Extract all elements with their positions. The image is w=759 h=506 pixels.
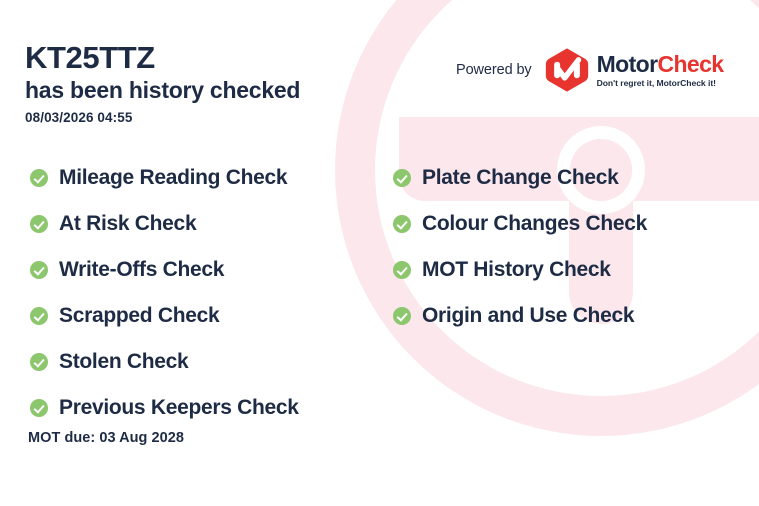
brand-tagline: Don't regret it, MotorCheck it! — [597, 79, 724, 88]
green-check-circle-icon — [30, 261, 48, 279]
check-item-previous-keepers: Previous Keepers Check — [30, 385, 299, 431]
check-item-label: Plate Change Check — [422, 166, 619, 190]
check-item-mileage-reading: Mileage Reading Check — [30, 155, 299, 201]
checks-right-column: Plate Change Check Colour Changes Check … — [393, 155, 647, 339]
motorcheck-logo[interactable]: MotorCheck Don't regret it, MotorCheck i… — [544, 47, 724, 93]
header-block: KT25TTZ has been history checked 08/03/2… — [25, 42, 300, 125]
powered-by-brand-lockup: Powered by MotorCheck Don't regret it, M… — [456, 47, 724, 93]
check-timestamp: 08/03/2026 04:55 — [25, 110, 300, 125]
green-check-circle-icon — [30, 353, 48, 371]
check-item-label: At Risk Check — [59, 212, 196, 236]
checks-left-column: Mileage Reading Check At Risk Check Writ… — [30, 155, 299, 431]
check-item-colour-changes: Colour Changes Check — [393, 201, 647, 247]
check-item-label: Colour Changes Check — [422, 212, 647, 236]
check-item-at-risk: At Risk Check — [30, 201, 299, 247]
check-item-label: Stolen Check — [59, 350, 188, 374]
check-item-plate-change: Plate Change Check — [393, 155, 647, 201]
vehicle-registration-plate: KT25TTZ — [25, 42, 300, 75]
check-item-label: Scrapped Check — [59, 304, 219, 328]
check-item-label: Mileage Reading Check — [59, 166, 287, 190]
green-check-circle-icon — [30, 399, 48, 417]
motorcheck-wordmark: MotorCheck Don't regret it, MotorCheck i… — [597, 53, 724, 88]
check-item-label: MOT History Check — [422, 258, 611, 282]
page-title: has been history checked — [25, 77, 300, 104]
wordmark-check: Check — [657, 51, 723, 77]
powered-by-label: Powered by — [456, 62, 532, 78]
green-check-circle-icon — [393, 261, 411, 279]
green-check-circle-icon — [30, 169, 48, 187]
check-item-label: Origin and Use Check — [422, 304, 634, 328]
vehicle-history-check-banner: KT25TTZ has been history checked 08/03/2… — [0, 0, 759, 506]
check-item-origin-and-use: Origin and Use Check — [393, 293, 647, 339]
green-check-circle-icon — [393, 215, 411, 233]
check-item-scrapped: Scrapped Check — [30, 293, 299, 339]
motorcheck-hexagon-icon — [544, 47, 590, 93]
green-check-circle-icon — [393, 307, 411, 325]
green-check-circle-icon — [393, 169, 411, 187]
wordmark-motor: Motor — [597, 51, 658, 77]
check-item-label: Write-Offs Check — [59, 258, 224, 282]
check-item-write-offs: Write-Offs Check — [30, 247, 299, 293]
check-item-mot-history: MOT History Check — [393, 247, 647, 293]
green-check-circle-icon — [30, 307, 48, 325]
mot-due-date: MOT due: 03 Aug 2028 — [28, 430, 184, 446]
green-check-circle-icon — [30, 215, 48, 233]
check-item-label: Previous Keepers Check — [59, 396, 299, 420]
check-item-stolen: Stolen Check — [30, 339, 299, 385]
